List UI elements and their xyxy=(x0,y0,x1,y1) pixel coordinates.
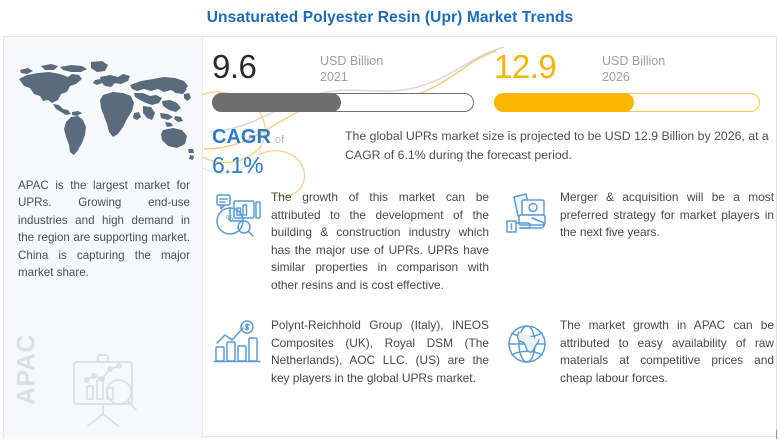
stat-block-2026: 12.9 USD Billion 2026 xyxy=(494,51,772,113)
apac-vertical-label: APAC xyxy=(13,327,42,413)
left-region-panel: APAC is the largest market for UPRs. Gro… xyxy=(4,37,203,438)
page-title: Unsaturated Polyester Resin (Upr) Market… xyxy=(207,9,573,27)
stat-value-2021: 9.6 xyxy=(212,48,256,86)
hand-holding-money-icon xyxy=(502,191,552,241)
infographic-root: Unsaturated Polyester Resin (Upr) Market… xyxy=(0,0,780,440)
stat-block-2021: 9.6 USD Billion 2021 xyxy=(212,51,478,113)
stat-head-2021: 9.6 USD Billion 2021 xyxy=(212,51,478,91)
page-title-bar: Unsaturated Polyester Resin (Upr) Market… xyxy=(0,0,780,36)
world-map-icon xyxy=(12,57,196,165)
insight-text-growth-drivers: The growth of this market can be attribu… xyxy=(271,189,489,295)
progress-bar-fill-2026 xyxy=(494,93,634,112)
stat-value-2026: 12.9 xyxy=(494,48,556,86)
bar-chart-growth-coin-icon xyxy=(213,319,263,369)
left-panel-description: APAC is the largest market for UPRs. Gro… xyxy=(18,177,190,281)
summary-text: The global UPRs market size is projected… xyxy=(345,127,770,165)
insight-text-key-players: Polynt-Reichhold Group (Italy), INEOS Co… xyxy=(271,317,489,387)
stat-unit-2026: USD Billion xyxy=(602,53,665,69)
progress-bar-fill-2021 xyxy=(212,93,341,112)
globe-icon xyxy=(502,319,552,369)
right-content-area: 9.6 USD Billion 2021 12.9 USD Billion 20… xyxy=(203,37,778,438)
cagr-value: 6.1% xyxy=(212,152,340,179)
stat-year-2021: 2021 xyxy=(320,69,348,85)
insight-text-apac-growth: The market growth in APAC can be attribu… xyxy=(560,317,774,387)
cagr-block: CAGRof 6.1% xyxy=(212,125,340,179)
infographic-card: APAC is the largest market for UPRs. Gro… xyxy=(3,36,777,437)
cagr-of-label: of xyxy=(275,134,284,146)
stat-unit-2021: USD Billion xyxy=(320,53,383,69)
progress-bar-2021 xyxy=(212,93,474,112)
stat-year-2026: 2026 xyxy=(602,69,630,85)
corner-mark: | xyxy=(775,429,778,440)
svg-text:%: % xyxy=(226,214,233,223)
cagr-label: CAGR xyxy=(212,126,271,148)
insight-text-merger-acquisition: Merger & acquisition will be a most pref… xyxy=(560,189,774,242)
cagr-label-row: CAGRof xyxy=(212,125,340,152)
progress-bar-2026 xyxy=(494,93,760,112)
stat-head-2026: 12.9 USD Billion 2026 xyxy=(494,51,772,91)
pie-bar-percent-analytics-icon: % xyxy=(213,191,263,241)
chart-analysis-board-icon xyxy=(62,352,148,432)
